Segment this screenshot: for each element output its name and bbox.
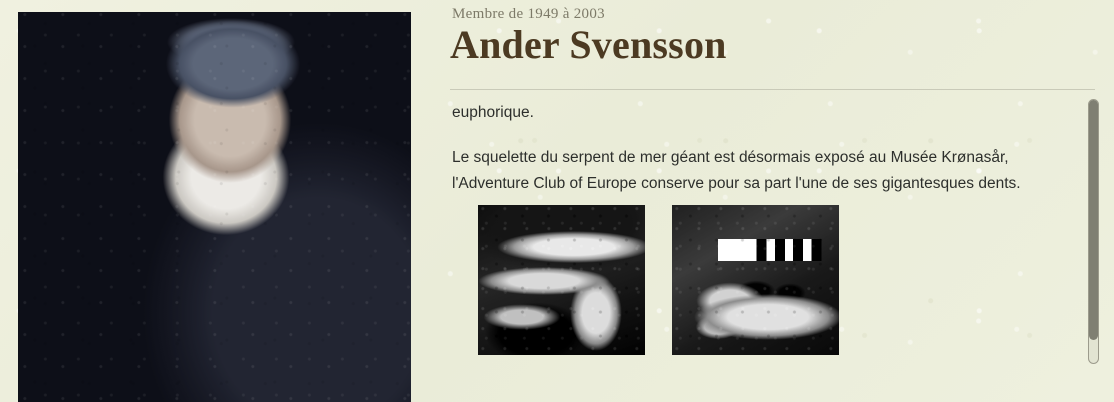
paragraph-2: Le squelette du serpent de mer géant est…: [452, 145, 1052, 197]
fossil-thumbnail-gallery: [478, 205, 839, 355]
portrait-grain-overlay: [18, 12, 411, 402]
thumbnail-grain-overlay: [672, 205, 839, 355]
article-body: euphorique. Le squelette du serpent de m…: [452, 100, 1052, 197]
fossil-vertebrae-thumbnail[interactable]: [478, 205, 645, 355]
paragraph-1: euphorique.: [452, 100, 1052, 126]
page-title: Ander Svensson: [450, 23, 727, 68]
article-content: Membre de 1949 à 2003 Ander Svensson eup…: [452, 0, 1114, 402]
title-divider: [450, 89, 1095, 90]
fossil-skull-thumbnail[interactable]: [672, 205, 839, 355]
member-portrait-photo: [18, 12, 411, 402]
vertical-scrollbar-track[interactable]: [1088, 99, 1099, 364]
thumbnail-grain-overlay: [478, 205, 645, 355]
vertical-scrollbar-thumb[interactable]: [1089, 100, 1098, 340]
membership-period-label: Membre de 1949 à 2003: [452, 6, 605, 23]
